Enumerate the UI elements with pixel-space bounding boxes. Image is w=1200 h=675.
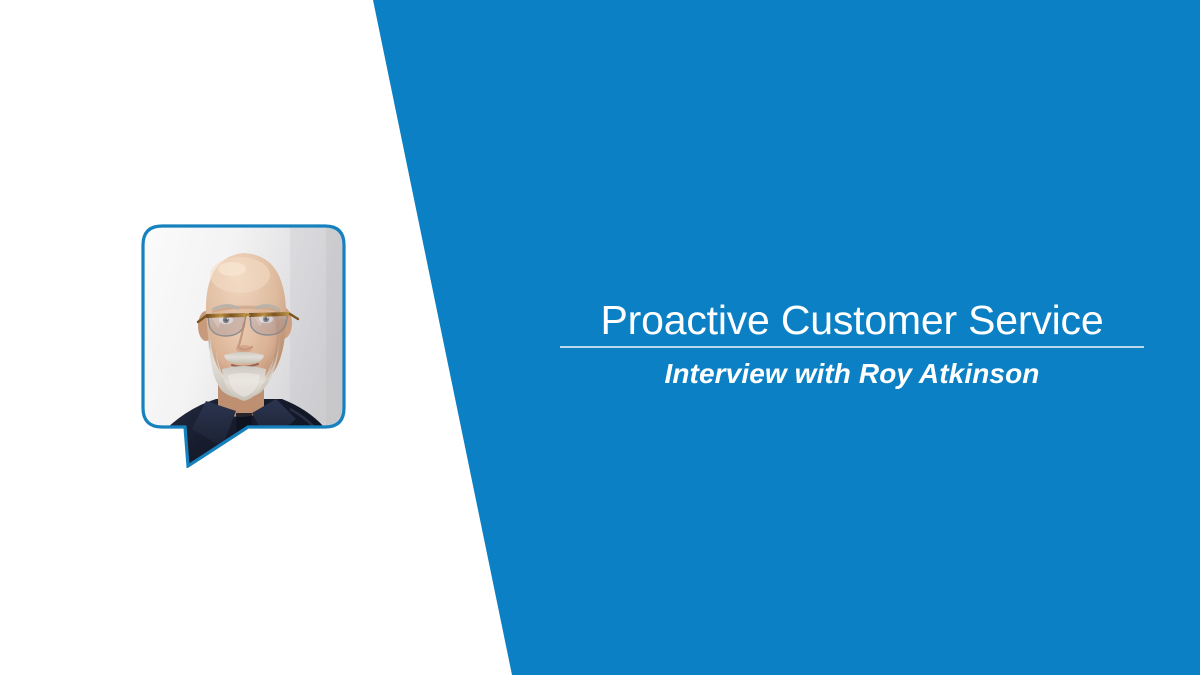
page-subtitle: Interview with Roy Atkinson [560,357,1144,391]
headline-block: Proactive Customer Service Interview wit… [560,296,1144,391]
moustache [224,352,264,363]
title-underline-rule [560,346,1144,348]
portrait-speech-bubble [140,223,350,468]
title-row: Proactive Customer Service [560,296,1144,348]
portrait-photo [140,223,350,468]
page-title: Proactive Customer Service [560,296,1144,344]
slide-canvas: Proactive Customer Service Interview wit… [0,0,1200,675]
